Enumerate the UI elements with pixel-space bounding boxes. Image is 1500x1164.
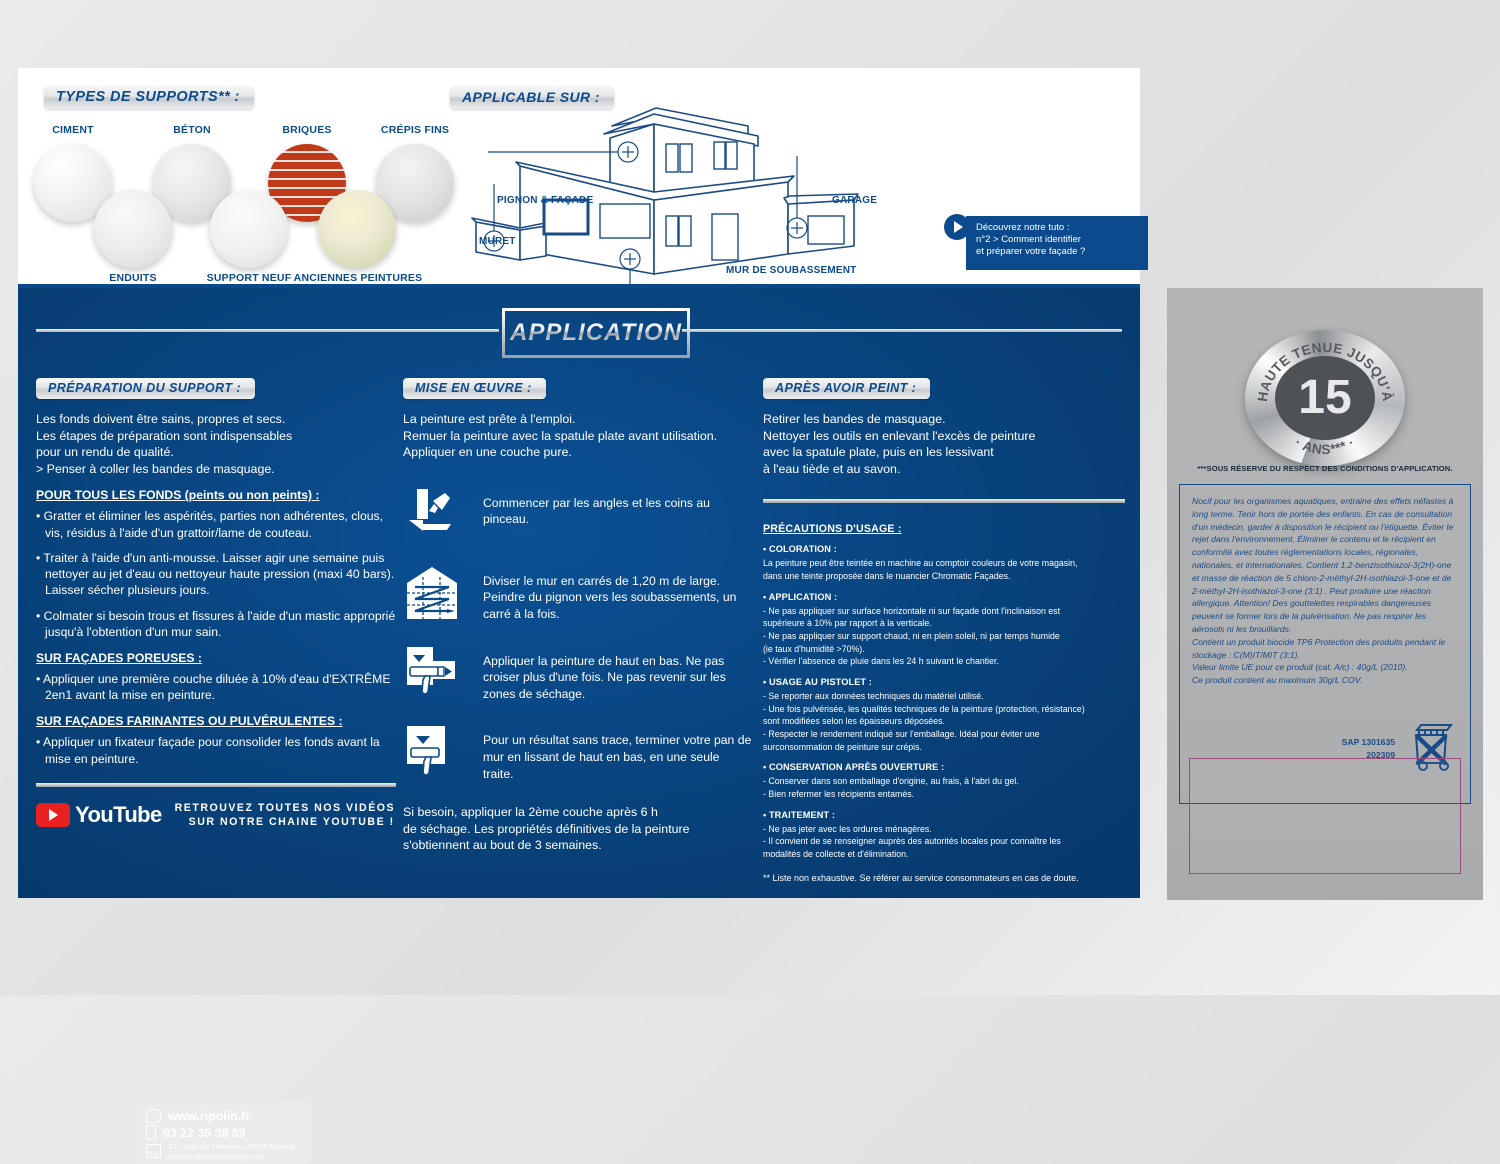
precautions-footnote: ** Liste non exhaustive. Se référer au s… — [763, 873, 1125, 883]
contact-address-row: Z.I. route de Thennes - 80110 Moreuil se… — [146, 1142, 302, 1161]
warning-line: Ce produit contient au maximum 30g/L COV… — [1192, 674, 1458, 687]
mise-en-oeuvre-heading: MISE EN ŒUVRE : — [403, 378, 546, 399]
youtube-row[interactable]: YouTube RETROUVEZ TOUTES NOS VIDÉOS SUR … — [36, 801, 396, 830]
banner-rule-left — [36, 329, 499, 332]
mise-footer-3: s'obtiennent au bout de 3 semaines. — [403, 837, 753, 854]
tuto-line-2: n°2 > Comment identifier — [976, 234, 1140, 246]
haute-tenue-badge: HAUTE TENUE JUSQU'À · ANS*** · 15 — [1245, 330, 1405, 466]
contact-website: www.ripolin.fr — [168, 1109, 250, 1123]
grey-side-panel: HAUTE TENUE JUSQU'À · ANS*** · 15 ***SOU… — [1167, 288, 1483, 900]
warning-line: Valeur limite UE pour ce produit (cat. A… — [1192, 661, 1458, 674]
column-mise-en-oeuvre: MISE EN ŒUVRE : La peinture est prête à … — [403, 378, 753, 854]
prep-intro-3: pour un rendu de qualité. — [36, 444, 396, 461]
warning-line: long terme. Tenir hors de portée des enf… — [1192, 508, 1458, 521]
preparation-heading: PRÉPARATION DU SUPPORT : — [36, 378, 255, 399]
types-de-supports-title: TYPES DE SUPPORTS** : — [44, 86, 254, 109]
mise-footer-1: Si besoin, appliquer la 2ème couche aprè… — [403, 804, 753, 821]
poster-root: TYPES DE SUPPORTS** : APPLICABLE SUR : C… — [0, 0, 1500, 995]
callout-garage: GARAGE — [832, 195, 877, 206]
prep-bullet-2: • Traiter à l'aide d'un anti-mousse. Lai… — [36, 550, 396, 599]
mise-intro-1: La peinture est prête à l'emploi. — [403, 411, 753, 428]
application-title-box: APPLICATION — [502, 308, 690, 358]
precaution-section: • CONSERVATION APRÈS OUVERTURE : - Conse… — [763, 762, 1125, 800]
step-text: Pour un résultat sans trace, terminer vo… — [483, 724, 753, 782]
callout-pignon-facade: PIGNON & FAÇADE — [497, 195, 593, 206]
contact-address: Z.I. route de Thennes - 80110 Moreuil — [168, 1142, 295, 1151]
mise-intro-3: Appliquer en une couche pure. — [403, 444, 753, 461]
warning-line: rejet dans l'environnement. Éliminer le … — [1192, 533, 1458, 546]
precaution-section: • COLORATION : La peinture peut être tei… — [763, 544, 1125, 582]
prep-bullet-5: • Appliquer un fixateur façade pour cons… — [36, 734, 396, 766]
contact-phone-row[interactable]: 03 22 35 38 89 — [146, 1125, 302, 1140]
roller-smooth-icon — [403, 724, 465, 780]
application-panel: APPLICATION PRÉPARATION DU SUPPORT : Les… — [18, 288, 1140, 898]
brush-corner-icon — [403, 487, 465, 543]
warning-line: stockage : C(M)IT/MIT (3:1). — [1192, 649, 1458, 662]
precaution-line: - Vérifier l'absence de pluie dans les 2… — [763, 655, 1125, 668]
prep-bullet-3: • Colmater si besoin trous et fissures à… — [36, 608, 396, 640]
contact-card: www.ripolin.fr 03 22 35 38 89 Z.I. route… — [136, 1102, 312, 1164]
precaution-line: surconsommation de peinture sur crépis. — [763, 741, 1125, 754]
preparation-intro: Les fonds doivent être sains, propres et… — [36, 411, 396, 477]
precaution-section: • TRAITEMENT : - Ne pas jeter avec les o… — [763, 810, 1125, 861]
top-panel: TYPES DE SUPPORTS** : APPLICABLE SUR : C… — [18, 68, 1140, 284]
roller-down-icon — [403, 645, 465, 701]
apres-intro-2: Nettoyer les outils en enlevant l'excès … — [763, 428, 1125, 445]
banner-rule-right — [682, 329, 1122, 332]
precaution-section: • APPLICATION : - Ne pas appliquer sur s… — [763, 592, 1125, 668]
precaution-title: • APPLICATION : — [763, 592, 1125, 602]
precaution-line: dans une teinte proposée dans le nuancie… — [763, 570, 1125, 583]
mise-intro-2: Remuer la peinture avec la spatule plate… — [403, 428, 753, 445]
step-item: Diviser le mur en carrés de 1,20 m de la… — [403, 565, 753, 623]
mail-icon — [146, 1144, 161, 1158]
precaution-line: - Bien refermer les récipients entamés. — [763, 788, 1125, 801]
tuto-box[interactable]: Découvrez notre tuto : n°2 > Comment ide… — [966, 216, 1148, 270]
warning-line: 2-méthyl-2H-isothiazol-3-one (3:1) . Peu… — [1192, 585, 1458, 598]
warning-line: d'un médecin, garder à disposition le ré… — [1192, 521, 1458, 534]
apres-intro-4: à l'eau tiède et au savon. — [763, 461, 1125, 478]
precaution-title: • USAGE AU PISTOLET : — [763, 677, 1125, 687]
warning-line: conformité avec toutes réglementations l… — [1192, 546, 1458, 559]
precaution-line: - Une fois pulvérisée, les qualités tech… — [763, 703, 1125, 716]
swatch-label-beton: BÉTON — [153, 124, 231, 136]
precaution-line: sont modifiées selon les épaisseurs dépo… — [763, 715, 1125, 728]
warning-line: Nocif pour les organismes aquatiques, en… — [1192, 495, 1458, 508]
precaution-title: • TRAITEMENT : — [763, 810, 1125, 820]
apres-peint-heading: APRÈS AVOIR PEINT : — [763, 378, 930, 399]
apres-intro: Retirer les bandes de masquage. Nettoyer… — [763, 411, 1125, 477]
tuto-line-3: et préparer votre façade ? — [976, 246, 1140, 258]
precautions-heading: PRÉCAUTIONS D'USAGE : — [763, 523, 1125, 535]
prep-intro-2: Les étapes de préparation sont indispens… — [36, 428, 396, 445]
column-preparation: PRÉPARATION DU SUPPORT : Les fonds doive… — [36, 378, 396, 830]
precaution-line: modalités de collecte et d'élimination. — [763, 848, 1125, 861]
warning-line: nationales, et internationales. Contient… — [1192, 559, 1458, 572]
precaution-line: supérieure à 10% par rapport à la vertic… — [763, 617, 1125, 630]
step-text: Commencer par les angles et les coins au… — [483, 487, 753, 528]
mise-footer: Si besoin, appliquer la 2ème couche aprè… — [403, 804, 753, 854]
step-item: Pour un résultat sans trace, terminer vo… — [403, 724, 753, 782]
contact-phone: 03 22 35 38 89 — [163, 1126, 246, 1140]
step-text: Diviser le mur en carrés de 1,20 m de la… — [483, 565, 753, 623]
swatch-label-crepis-fins: CRÉPIS FINS — [366, 124, 464, 136]
precaution-line: - Ne pas appliquer sur surface horizonta… — [763, 605, 1125, 618]
precaution-line: - Ne pas jeter avec les ordures ménagère… — [763, 823, 1125, 836]
youtube-wordmark: YouTube — [75, 802, 162, 828]
column-apres-avoir-peint: APRÈS AVOIR PEINT : Retirer les bandes d… — [763, 378, 1125, 883]
badge-note: ***SOUS RÉSERVE DU RESPECT DES CONDITION… — [1167, 464, 1483, 473]
callout-mur-soubassement: MUR DE SOUBASSEMENT — [726, 265, 856, 276]
youtube-caption-2: SUR NOTRE CHAINE YOUTUBE ! — [175, 815, 395, 830]
prep-bullet-4: • Appliquer une première couche diluée à… — [36, 671, 396, 703]
chat-icon — [146, 1109, 161, 1123]
precaution-line: - Respecter le rendement indiqué sur l'e… — [763, 728, 1125, 741]
tuto-line-1: Découvrez notre tuto : — [976, 222, 1069, 233]
apres-intro-3: avec la spatule plate, puis en les lessi… — [763, 444, 1125, 461]
swatch-anciennes-peintures — [318, 190, 396, 268]
contact-website-row[interactable]: www.ripolin.fr — [146, 1109, 302, 1123]
mise-intro: La peinture est prête à l'emploi. Remuer… — [403, 411, 753, 461]
contact-email: service.technique@ppg.com — [168, 1152, 264, 1161]
prep-bullet-1: • Gratter et éliminer les aspérités, par… — [36, 508, 396, 540]
precaution-title: • CONSERVATION APRÈS OUVERTURE : — [763, 762, 1125, 772]
swatch-label-ciment: CIMENT — [34, 124, 112, 136]
swatch-label-enduits: ENDUITS — [94, 272, 172, 284]
youtube-caption-1: RETROUVEZ TOUTES NOS VIDÉOS — [175, 801, 395, 816]
prep-subhead-poreuses: SUR FAÇADES POREUSES : — [36, 651, 396, 665]
phone-icon — [146, 1125, 156, 1140]
sap-code: SAP 1301635 — [1342, 736, 1395, 749]
precaution-line: - Ne pas appliquer sur support chaud, ni… — [763, 630, 1125, 643]
contact-address-block: Z.I. route de Thennes - 80110 Moreuil se… — [168, 1142, 295, 1161]
warning-line: Contient un produit biocide TP6 Protecti… — [1192, 636, 1458, 649]
mise-footer-2: de séchage. Les propriétés définitives d… — [403, 821, 753, 838]
apres-intro-1: Retirer les bandes de masquage. — [763, 411, 1125, 428]
warning-text: Nocif pour les organismes aquatiques, en… — [1192, 495, 1458, 687]
prep-intro-1: Les fonds doivent être sains, propres et… — [36, 411, 396, 428]
precaution-line: - Il convient de se renseigner auprès de… — [763, 835, 1125, 848]
wall-grid-icon — [403, 565, 465, 621]
warning-line: allergique. Attention! Des gouttelettes … — [1192, 597, 1458, 610]
precaution-line: - Se reporter aux données techniques du … — [763, 690, 1125, 703]
badge-number: 15 — [1298, 374, 1351, 422]
precaution-line: La peinture peut être teintée en machine… — [763, 557, 1125, 570]
prep-intro-4: > Penser à coller les bandes de masquage… — [36, 461, 396, 478]
divider-right — [763, 499, 1125, 503]
precaution-section: • USAGE AU PISTOLET : - Se reporter aux … — [763, 677, 1125, 753]
application-title: APPLICATION — [510, 319, 682, 347]
youtube-play-icon[interactable] — [36, 803, 70, 827]
precaution-line: (ie taux d'humidité >70%). — [763, 643, 1125, 656]
divider-left — [36, 783, 396, 787]
step-item: Appliquer la peinture de haut en bas. Ne… — [403, 645, 753, 703]
precaution-title: • COLORATION : — [763, 544, 1125, 554]
badge-inner-circle: 15 — [1275, 356, 1375, 440]
house-diagram — [458, 104, 878, 284]
step-item: Commencer par les angles et les coins au… — [403, 487, 753, 543]
precaution-line: - Conserver dans son emballage d'origine… — [763, 775, 1125, 788]
swatch-label-briques: BRIQUES — [268, 124, 346, 136]
youtube-logo[interactable]: YouTube — [36, 802, 162, 828]
prep-subhead-farinantes: SUR FAÇADES FARINANTES OU PULVÉRULENTES … — [36, 714, 396, 728]
swatch-label-anciennes-main: ANCIENNES PEINTURES — [294, 272, 423, 284]
step-text: Appliquer la peinture de haut en bas. Ne… — [483, 645, 753, 703]
warning-line: aérosols ni les brouillards. — [1192, 623, 1458, 636]
swatch-support-neuf — [210, 190, 288, 268]
application-banner: APPLICATION — [18, 308, 1140, 352]
callout-muret: MURET — [479, 236, 516, 247]
swatch-enduits — [94, 190, 172, 268]
pink-bordered-box — [1189, 758, 1461, 874]
warning-line: peuvent se former lors de la pulvérisati… — [1192, 610, 1458, 623]
warning-line: et masse de réaction de 5 chloro-2-méthy… — [1192, 572, 1458, 585]
youtube-caption: RETROUVEZ TOUTES NOS VIDÉOS SUR NOTRE CH… — [175, 801, 395, 830]
prep-subhead-tous-fonds: POUR TOUS LES FONDS (peints ou non peint… — [36, 488, 396, 502]
